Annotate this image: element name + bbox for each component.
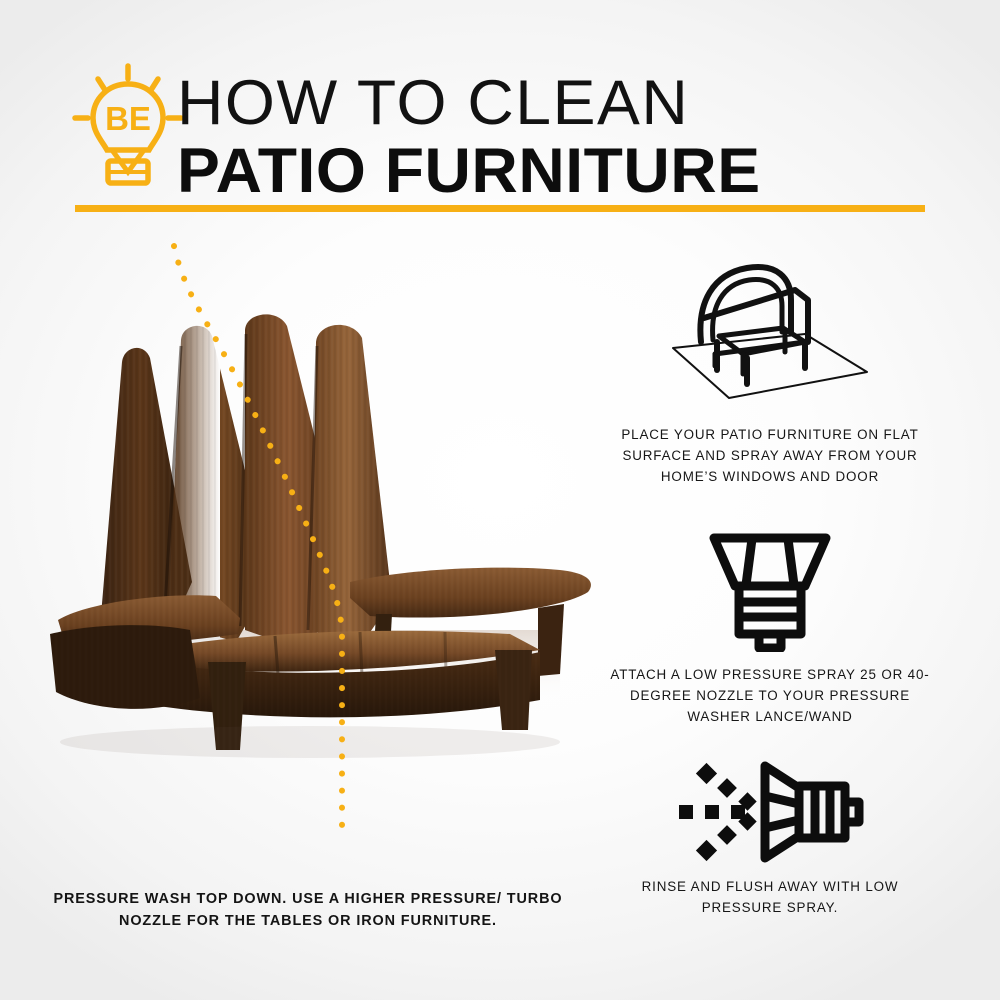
step-3-text: RINSE AND FLUSH AWAY WITH LOW PRESSURE S…: [600, 876, 940, 918]
page-title: HOW TO CLEAN PATIO FURNITURE: [177, 72, 957, 204]
brand-text-be: BE: [105, 100, 151, 137]
photo-caption: PRESSURE WASH TOP DOWN. USE A HIGHER PRE…: [48, 888, 568, 932]
title-line-2: PATIO FURNITURE: [177, 138, 973, 204]
lightbulb-icon: BE: [72, 62, 184, 194]
step-2-text: ATTACH A LOW PRESSURE SPRAY 25 OR 40-DEG…: [600, 664, 940, 727]
step-1-text: PLACE YOUR PATIO FURNITURE ON FLAT SURFA…: [600, 424, 940, 487]
header: BE HOW TO CLEAN PATIO FURNITURE: [0, 0, 1000, 220]
header-divider-rule: [75, 205, 925, 212]
title-line-1: HOW TO CLEAN: [177, 72, 973, 134]
step-3: RINSE AND FLUSH AWAY WITH LOW PRESSURE S…: [600, 758, 940, 918]
infographic-page: BE HOW TO CLEAN PATIO FURNITURE: [0, 0, 1000, 1000]
step-2: ATTACH A LOW PRESSURE SPRAY 25 OR 40-DEG…: [600, 528, 940, 727]
dotted-spray-path: [40, 230, 620, 890]
adirondack-chair-photo: [40, 230, 620, 890]
step-1: PLACE YOUR PATIO FURNITURE ON FLAT SURFA…: [600, 246, 940, 487]
